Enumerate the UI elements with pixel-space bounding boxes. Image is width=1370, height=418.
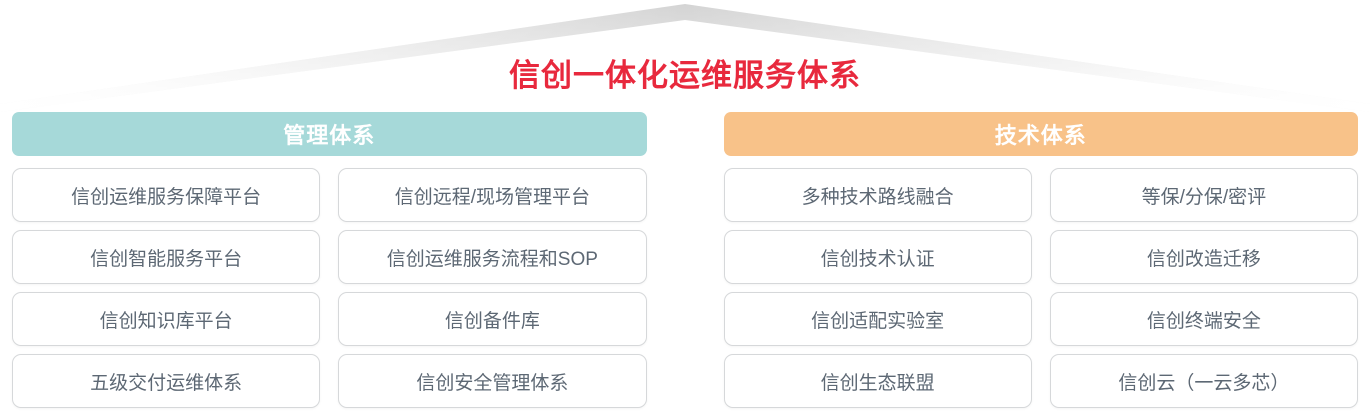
cell-item[interactable]: 信创远程/现场管理平台 xyxy=(338,168,646,222)
cell-item[interactable]: 等保/分保/密评 xyxy=(1050,168,1358,222)
cell-item[interactable]: 信创终端安全 xyxy=(1050,292,1358,346)
cell-item[interactable]: 五级交付运维体系 xyxy=(12,354,320,408)
cell-item[interactable]: 信创改造迁移 xyxy=(1050,230,1358,284)
cell-item[interactable]: 信创备件库 xyxy=(338,292,646,346)
cell-item[interactable]: 信创安全管理体系 xyxy=(338,354,646,408)
panel-header-management: 管理体系 xyxy=(12,112,647,156)
cell-item[interactable]: 信创生态联盟 xyxy=(724,354,1032,408)
panel-header-technology: 技术体系 xyxy=(724,112,1359,156)
cell-item[interactable]: 信创云（一云多芯） xyxy=(1050,354,1358,408)
panel-grid-management: 信创运维服务保障平台 信创远程/现场管理平台 信创智能服务平台 信创运维服务流程… xyxy=(12,168,647,408)
panels-container: 管理体系 信创运维服务保障平台 信创远程/现场管理平台 信创智能服务平台 信创运… xyxy=(0,112,1370,418)
cell-item[interactable]: 信创适配实验室 xyxy=(724,292,1032,346)
panel-technology: 技术体系 多种技术路线融合 等保/分保/密评 信创技术认证 信创改造迁移 信创适… xyxy=(724,112,1359,418)
cell-item[interactable]: 信创知识库平台 xyxy=(12,292,320,346)
cell-item[interactable]: 信创技术认证 xyxy=(724,230,1032,284)
panel-grid-technology: 多种技术路线融合 等保/分保/密评 信创技术认证 信创改造迁移 信创适配实验室 … xyxy=(724,168,1359,408)
panel-management: 管理体系 信创运维服务保障平台 信创远程/现场管理平台 信创智能服务平台 信创运… xyxy=(12,112,647,418)
banner-roof: 信创一体化运维服务体系 xyxy=(0,0,1370,112)
cell-item[interactable]: 多种技术路线融合 xyxy=(724,168,1032,222)
page-title: 信创一体化运维服务体系 xyxy=(0,56,1370,96)
cell-item[interactable]: 信创运维服务保障平台 xyxy=(12,168,320,222)
cell-item[interactable]: 信创运维服务流程和SOP xyxy=(338,230,646,284)
cell-item[interactable]: 信创智能服务平台 xyxy=(12,230,320,284)
